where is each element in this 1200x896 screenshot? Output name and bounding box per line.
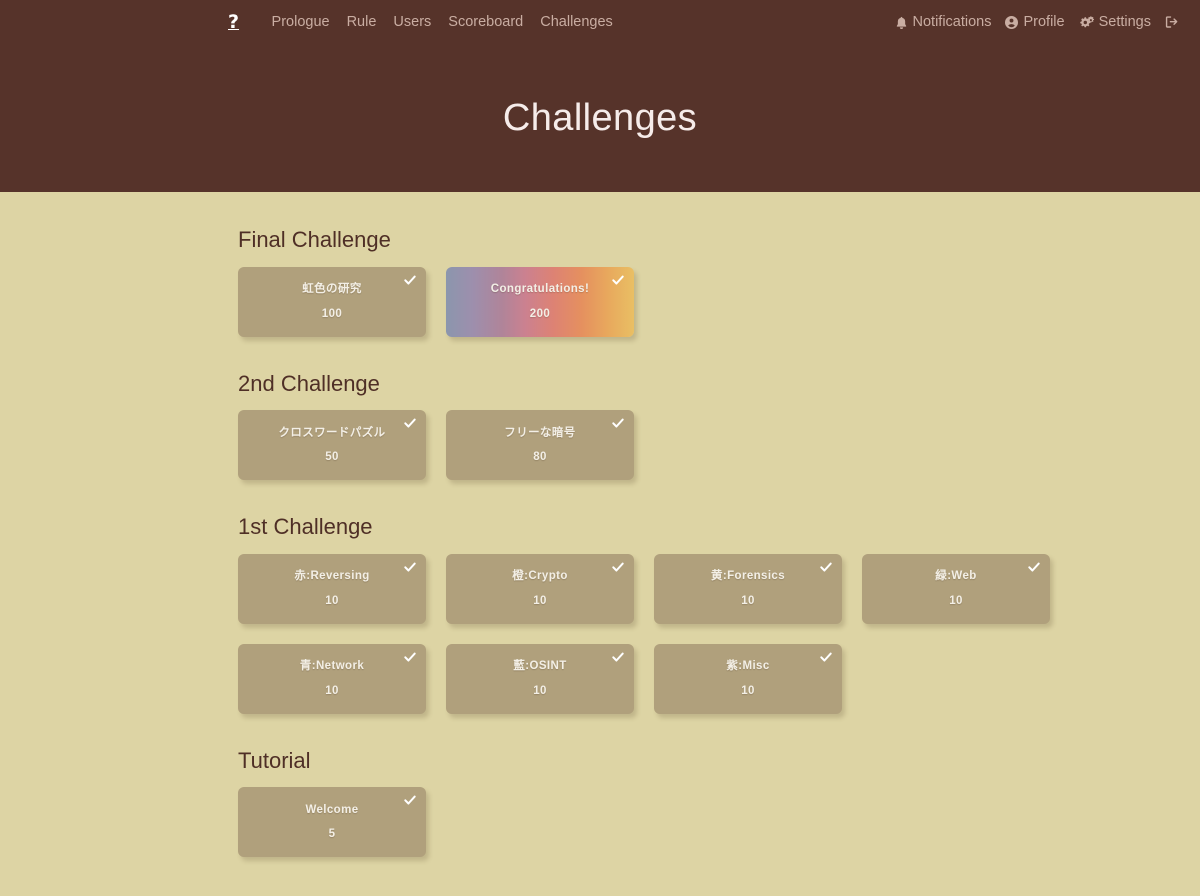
challenge-card-title: 黄:Forensics bbox=[711, 570, 785, 583]
page-title: Challenges bbox=[503, 97, 697, 140]
solved-check-icon bbox=[403, 560, 417, 574]
challenge-card-points: 80 bbox=[533, 452, 547, 464]
section-1st-challenge: 1st Challenge 赤:Reversing 10 橙:Crypto 10 bbox=[238, 513, 1160, 714]
section-heading-final-challenge: Final Challenge bbox=[238, 226, 1160, 255]
challenge-card-title: 紫:Misc bbox=[726, 660, 769, 673]
challenge-card-points: 10 bbox=[741, 596, 755, 608]
section-tutorial: Tutorial Welcome 5 bbox=[238, 747, 1160, 858]
challenge-card[interactable]: 緑:Web 10 bbox=[862, 554, 1050, 624]
challenge-card-points: 200 bbox=[530, 309, 550, 321]
challenge-card[interactable]: クロスワードパズル 50 bbox=[238, 410, 426, 480]
solved-check-icon bbox=[403, 416, 417, 430]
nav-link-rule[interactable]: Rule bbox=[338, 14, 385, 30]
challenge-card-points: 10 bbox=[949, 596, 963, 608]
nav-link-prologue[interactable]: Prologue bbox=[263, 14, 338, 30]
challenge-card[interactable]: 橙:Crypto 10 bbox=[446, 554, 634, 624]
solved-check-icon bbox=[819, 650, 833, 664]
nav-label-notifications: Notifications bbox=[913, 14, 992, 30]
section-heading-2nd-challenge: 2nd Challenge bbox=[238, 370, 1160, 399]
nav-link-settings[interactable]: Settings bbox=[1072, 14, 1158, 30]
challenge-grid-2nd: クロスワードパズル 50 フリーな暗号 80 bbox=[238, 410, 1098, 480]
challenge-card[interactable]: Congratulations! 200 bbox=[446, 267, 634, 337]
challenge-card-points: 100 bbox=[322, 309, 342, 321]
challenge-card-title: 藍:OSINT bbox=[513, 660, 566, 673]
nav-link-users[interactable]: Users bbox=[385, 14, 440, 30]
solved-check-icon bbox=[1027, 560, 1041, 574]
challenge-card[interactable]: 虹色の研究 100 bbox=[238, 267, 426, 337]
primary-nav-links: Prologue Rule Users Scoreboard Challenge… bbox=[263, 14, 621, 30]
challenge-grid-tutorial: Welcome 5 bbox=[238, 787, 1098, 857]
challenge-card-title: 橙:Crypto bbox=[512, 570, 568, 583]
sign-out-icon bbox=[1165, 15, 1179, 29]
logout-button[interactable] bbox=[1158, 15, 1186, 29]
challenge-card-points: 10 bbox=[325, 596, 339, 608]
challenge-card-title: 赤:Reversing bbox=[294, 570, 369, 583]
section-final-challenge: Final Challenge 虹色の研究 100 Congratulation… bbox=[238, 226, 1160, 337]
nav-link-notifications[interactable]: Notifications bbox=[888, 14, 999, 30]
challenge-card-points: 5 bbox=[329, 829, 336, 841]
challenge-card[interactable]: 青:Network 10 bbox=[238, 644, 426, 714]
bell-icon bbox=[895, 16, 908, 29]
challenge-card-points: 10 bbox=[741, 686, 755, 698]
solved-check-icon bbox=[819, 560, 833, 574]
challenge-card-points: 10 bbox=[325, 686, 339, 698]
challenge-card-title: Congratulations! bbox=[491, 283, 589, 296]
challenge-card-title: Welcome bbox=[305, 804, 358, 817]
challenge-card-title: 青:Network bbox=[300, 660, 364, 673]
solved-check-icon bbox=[403, 793, 417, 807]
challenge-card-points: 10 bbox=[533, 686, 547, 698]
nav-link-profile[interactable]: Profile bbox=[998, 14, 1071, 30]
challenge-card-title: クロスワードパズル bbox=[278, 427, 385, 440]
nav-label-settings: Settings bbox=[1099, 14, 1151, 30]
solved-check-icon bbox=[611, 273, 625, 287]
top-navbar: ? Prologue Rule Users Scoreboard Challen… bbox=[0, 0, 1200, 44]
navbar-left-group: ? Prologue Rule Users Scoreboard Challen… bbox=[222, 13, 621, 32]
challenge-card[interactable]: 藍:OSINT 10 bbox=[446, 644, 634, 714]
challenge-card-points: 50 bbox=[325, 452, 339, 464]
challenge-card-title: 虹色の研究 bbox=[302, 283, 362, 296]
challenge-grid-1st: 赤:Reversing 10 橙:Crypto 10 黄:Forensics 1… bbox=[238, 554, 1098, 714]
nav-label-profile: Profile bbox=[1023, 14, 1064, 30]
challenges-container: Final Challenge 虹色の研究 100 Congratulation… bbox=[0, 192, 1200, 857]
nav-link-scoreboard[interactable]: Scoreboard bbox=[440, 14, 532, 30]
user-circle-icon bbox=[1005, 16, 1018, 29]
nav-link-challenges[interactable]: Challenges bbox=[532, 14, 622, 30]
solved-check-icon bbox=[403, 273, 417, 287]
gears-icon bbox=[1079, 16, 1094, 29]
challenge-card-title: フリーな暗号 bbox=[504, 427, 575, 440]
section-heading-tutorial: Tutorial bbox=[238, 747, 1160, 776]
navbar-right-group: Notifications Profile Settings bbox=[888, 0, 1187, 44]
challenge-card-title: 緑:Web bbox=[935, 570, 976, 583]
challenge-card[interactable]: 黄:Forensics 10 bbox=[654, 554, 842, 624]
main-content: Final Challenge 虹色の研究 100 Congratulation… bbox=[0, 192, 1200, 857]
challenge-card-points: 10 bbox=[533, 596, 547, 608]
challenge-card[interactable]: 紫:Misc 10 bbox=[654, 644, 842, 714]
solved-check-icon bbox=[611, 650, 625, 664]
solved-check-icon bbox=[403, 650, 417, 664]
challenge-card[interactable]: フリーな暗号 80 bbox=[446, 410, 634, 480]
section-heading-1st-challenge: 1st Challenge bbox=[238, 513, 1160, 542]
challenge-card[interactable]: 赤:Reversing 10 bbox=[238, 554, 426, 624]
section-2nd-challenge: 2nd Challenge クロスワードパズル 50 フリーな暗号 80 bbox=[238, 370, 1160, 481]
solved-check-icon bbox=[611, 560, 625, 574]
brand-logo-question-mark-icon[interactable]: ? bbox=[222, 13, 245, 32]
challenge-grid-final: 虹色の研究 100 Congratulations! 200 bbox=[238, 267, 1098, 337]
challenge-card[interactable]: Welcome 5 bbox=[238, 787, 426, 857]
page-hero: Challenges bbox=[0, 44, 1200, 192]
solved-check-icon bbox=[611, 416, 625, 430]
